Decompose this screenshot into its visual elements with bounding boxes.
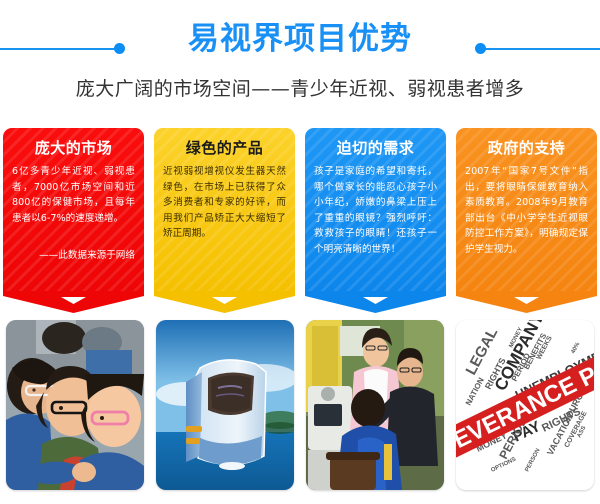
card-title: 政府的支持 xyxy=(465,137,588,159)
page-header: 易视界项目优势 庞大广阔的市场空间——青少年近视、弱视患者增多 xyxy=(0,0,600,110)
card-tail-icon xyxy=(305,291,446,313)
advantage-card-market[interactable]: 庞大的市场 6亿多青少年近视、弱视患者，7000亿市场空间和近800亿的保健市场… xyxy=(3,128,144,313)
advantage-card-product[interactable]: 绿色的产品 近视弱视增视仪发生器天然绿色，在市场上已获得了众多消费者和专家的好评… xyxy=(154,128,295,313)
card-body: 政府的支持 2007年“国家7号文件”指出，要将眼睛保健教育纳入素质教育。200… xyxy=(456,128,597,291)
card-title: 绿色的产品 xyxy=(163,137,286,159)
page-title: 易视界项目优势 xyxy=(0,24,600,55)
card-body: 绿色的产品 近视弱视增视仪发生器天然绿色，在市场上已获得了众多消费者和专家的好评… xyxy=(154,128,295,291)
card-body-text: 2007年“国家7号文件”指出，要将眼睛保健教育纳入素质教育。2008年9月教育… xyxy=(465,164,588,257)
advantage-cards: 庞大的市场 6亿多青少年近视、弱视患者，7000亿市场空间和近800亿的保健市场… xyxy=(0,128,600,313)
card-source-note: ——此数据来源于网络 xyxy=(12,248,135,263)
card-tail-icon xyxy=(154,291,295,313)
photo-eye-examination[interactable] xyxy=(306,320,444,490)
photo-gallery: LEGAL RIGHTS NATION COMPANY PERIOD BENEF… xyxy=(0,320,600,496)
advantage-card-government[interactable]: 政府的支持 2007年“国家7号文件”指出，要将眼睛保健教育纳入素质教育。200… xyxy=(456,128,597,313)
photo-students-with-glasses[interactable] xyxy=(6,320,144,490)
card-body-text: 孩子是家庭的希望和寄托，哪个做家长的能忍心孩子小小年纪，娇嫩的鼻梁上压上了重重的… xyxy=(314,164,437,257)
card-tail-icon xyxy=(3,291,144,313)
card-body: 庞大的市场 6亿多青少年近视、弱视患者，7000亿市场空间和近800亿的保健市场… xyxy=(3,128,144,291)
photo-vision-device[interactable] xyxy=(156,320,294,490)
photo-word-cloud[interactable]: LEGAL RIGHTS NATION COMPANY PERIOD BENEF… xyxy=(456,320,594,490)
card-body-text: 近视弱视增视仪发生器天然绿色，在市场上已获得了众多消费者和专家的好评，而用我们产… xyxy=(163,164,286,242)
card-body-text: 6亿多青少年近视、弱视患者，7000亿市场空间和近800亿的保健市场，且每年患者… xyxy=(12,164,135,226)
card-body: 迫切的需求 孩子是家庭的希望和寄托，哪个做家长的能忍心孩子小小年纪，娇嫩的鼻梁上… xyxy=(305,128,446,291)
advantage-card-demand[interactable]: 迫切的需求 孩子是家庭的希望和寄托，哪个做家长的能忍心孩子小小年纪，娇嫩的鼻梁上… xyxy=(305,128,446,313)
card-title: 迫切的需求 xyxy=(314,137,437,159)
page-subtitle: 庞大广阔的市场空间——青少年近视、弱视患者增多 xyxy=(0,74,600,101)
card-title: 庞大的市场 xyxy=(12,137,135,159)
card-tail-icon xyxy=(456,291,597,313)
